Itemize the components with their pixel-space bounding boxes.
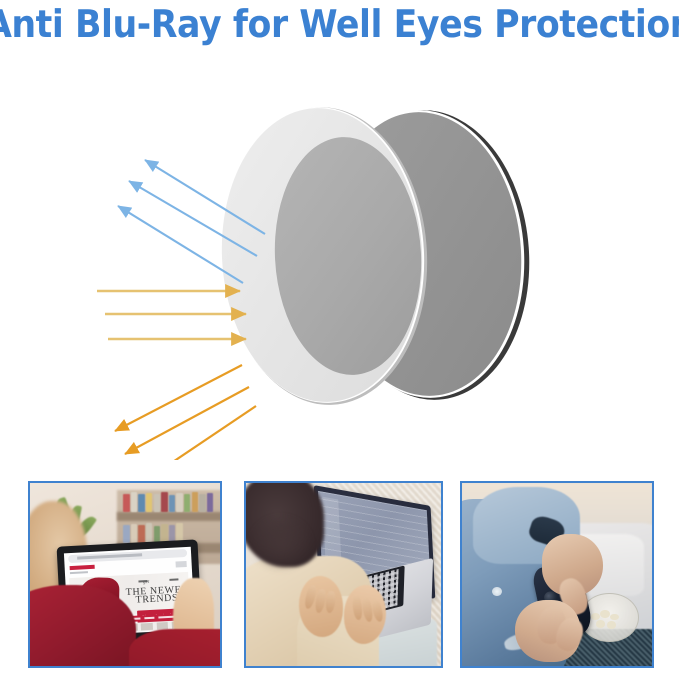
photo-tablet-shopping[interactable]: get THE NEWEST TRENDS Shop the look [28,481,222,668]
incoming-light-rays [97,291,246,339]
promo-kicker: get [142,579,149,585]
photo-laptop-typing[interactable] [244,481,443,668]
page-title-text: Anti Blu-Ray for Well Eyes Protection [0,4,679,44]
page-title: Anti Blu-Ray for Well Eyes Protection [0,0,679,48]
reflected-light-rays [115,365,256,460]
promo-line-2: TRENDS [135,593,178,606]
photo-strip: get THE NEWEST TRENDS Shop the look [0,470,679,675]
anti-blue-light-lens-diagram [0,48,679,460]
photo-game-controller[interactable] [460,481,654,668]
